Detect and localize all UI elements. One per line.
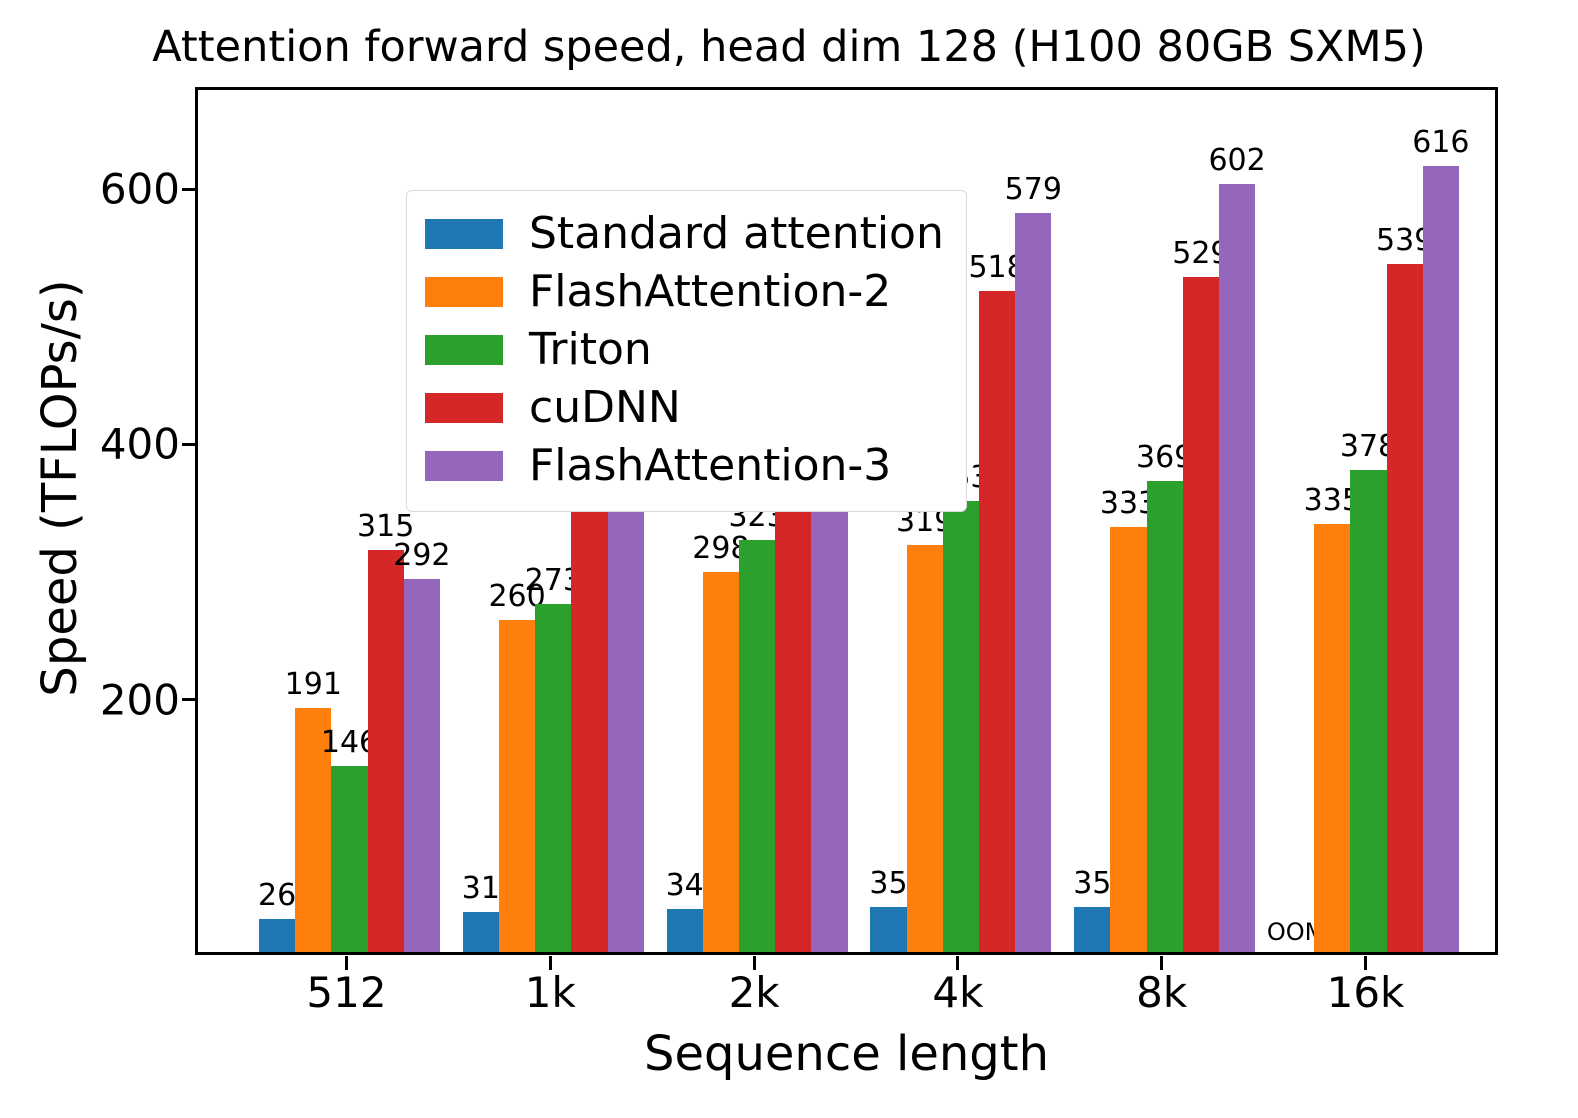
- legend-item-label: Standard attention: [529, 212, 944, 256]
- x-axis-tick-label: 2k: [664, 968, 844, 1017]
- bar-flashattention-2-8k: [1110, 527, 1146, 952]
- bar-value-label: 26: [258, 878, 296, 913]
- bar-flashattention-3-8k: [1219, 184, 1255, 952]
- bar-value-label: 191: [285, 667, 342, 702]
- bar-value-label: 34: [666, 868, 704, 903]
- bar-value-label: 579: [1005, 172, 1062, 207]
- bar-value-label: 31: [462, 871, 500, 906]
- bar-cudnn-512: [368, 550, 404, 952]
- bar-standard-attention-512: [259, 919, 295, 952]
- bar-flashattention-3-16k: [1423, 166, 1459, 952]
- bar-value-label: 35: [869, 866, 907, 901]
- bar-flashattention-2-4k: [907, 545, 943, 952]
- y-axis-tick-label: 200: [20, 675, 180, 724]
- bar-flashattention-3-512: [404, 579, 440, 952]
- bar-value-label: 35: [1073, 866, 1111, 901]
- bar-triton-2k: [739, 540, 775, 952]
- plot-area: 2631343535OOM191260298319333335146273323…: [195, 87, 1498, 955]
- legend-item-label: FlashAttention-3: [529, 444, 891, 488]
- bar-flashattention-2-1k: [499, 620, 535, 952]
- bar-standard-attention-4k: [870, 907, 906, 952]
- legend-item: FlashAttention-3: [425, 437, 944, 495]
- bar-flashattention-3-4k: [1015, 213, 1051, 952]
- legend-item-label: Triton: [529, 328, 652, 372]
- x-axis-tick-label: 512: [257, 968, 437, 1017]
- bar-triton-4k: [943, 501, 979, 952]
- x-axis-title: Sequence length: [195, 1026, 1498, 1082]
- bar-triton-8k: [1147, 481, 1183, 952]
- bar-triton-1k: [535, 604, 571, 952]
- legend-swatch-icon: [425, 277, 503, 307]
- bar-triton-512: [331, 766, 367, 952]
- bar-value-label: 602: [1208, 143, 1265, 178]
- legend-item: Triton: [425, 321, 944, 379]
- bar-standard-attention-2k: [667, 909, 703, 952]
- bar-cudnn-8k: [1183, 277, 1219, 952]
- y-axis-tick-mark: [182, 443, 196, 446]
- bar-standard-attention-1k: [463, 912, 499, 952]
- page-title: Attention forward speed, head dim 128 (H…: [0, 22, 1578, 72]
- chart-figure: Attention forward speed, head dim 128 (H…: [0, 0, 1578, 1118]
- legend: Standard attentionFlashAttention-2Triton…: [406, 190, 967, 512]
- y-axis-tick-mark: [182, 698, 196, 701]
- legend-item: FlashAttention-2: [425, 263, 944, 321]
- bar-standard-attention-8k: [1074, 907, 1110, 952]
- bar-flashattention-2-16k: [1314, 524, 1350, 952]
- y-axis-tick-label: 600: [20, 165, 180, 214]
- x-axis-tick-label: 16k: [1276, 968, 1456, 1017]
- x-axis-tick-label: 4k: [868, 968, 1048, 1017]
- y-axis-title: Speed (TFLOPs/s): [32, 228, 88, 748]
- legend-swatch-icon: [425, 393, 503, 423]
- legend-item-label: cuDNN: [529, 386, 681, 430]
- bar-flashattention-2-2k: [703, 572, 739, 952]
- x-axis-tick-label: 8k: [1072, 968, 1252, 1017]
- legend-item: cuDNN: [425, 379, 944, 437]
- legend-item: Standard attention: [425, 205, 944, 263]
- bar-value-label: 616: [1412, 125, 1469, 160]
- bar-value-label: 292: [393, 538, 450, 573]
- bar-cudnn-4k: [979, 291, 1015, 952]
- legend-item-label: FlashAttention-2: [529, 270, 891, 314]
- y-axis-tick-label: 400: [20, 420, 180, 469]
- y-axis-tick-mark: [182, 188, 196, 191]
- legend-swatch-icon: [425, 451, 503, 481]
- legend-swatch-icon: [425, 219, 503, 249]
- x-axis-tick-label: 1k: [460, 968, 640, 1017]
- bar-cudnn-16k: [1387, 264, 1423, 952]
- bar-triton-16k: [1350, 470, 1386, 953]
- legend-swatch-icon: [425, 335, 503, 365]
